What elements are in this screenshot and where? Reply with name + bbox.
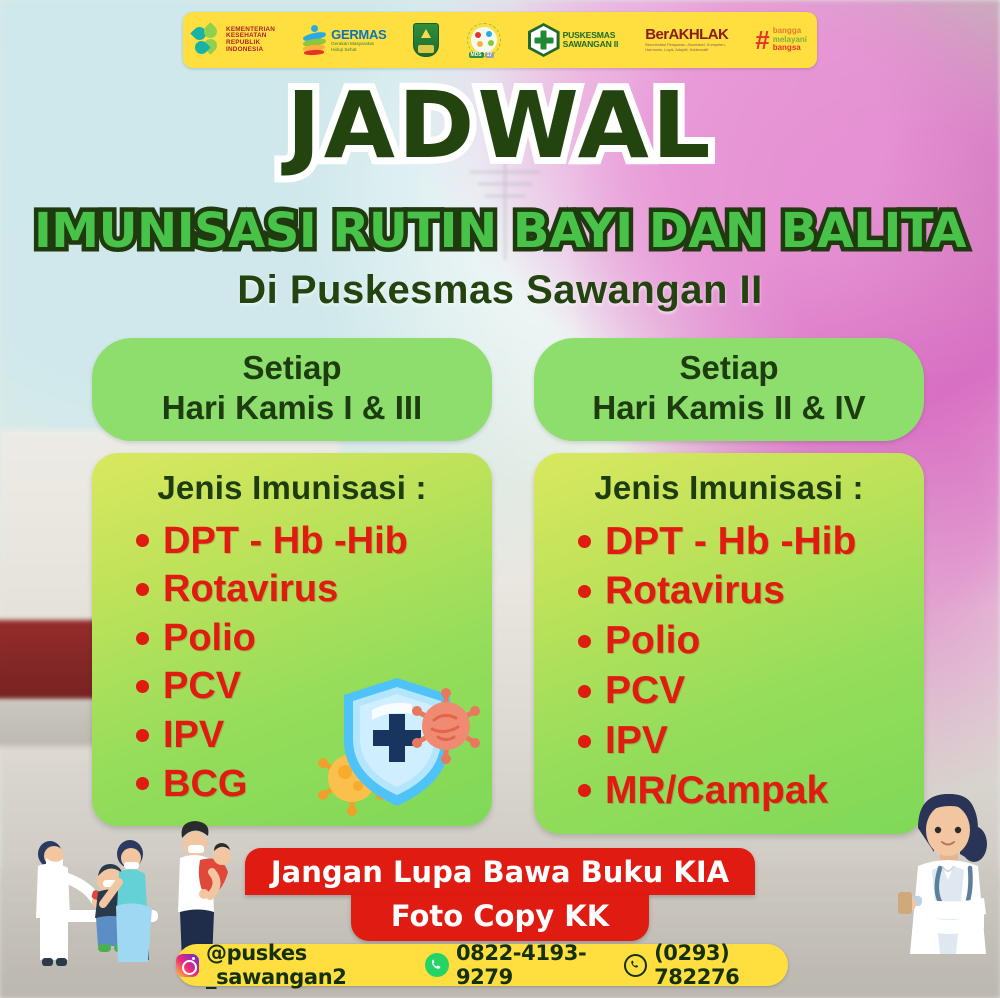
vaccine-label: IPV <box>605 716 668 766</box>
vaccine-label: DPT - Hb -Hib <box>163 517 408 566</box>
phone-icon[interactable] <box>624 954 647 977</box>
berakhlak-subtitle-2: Harmonis, Loyal, Adaptif, Kolaboratif <box>645 48 728 53</box>
kemenkes-logo: KEMENTERIAN KESEHATAN REPUBLIK INDONESIA <box>193 25 275 55</box>
mds-logo: MDS 17 <box>467 23 501 57</box>
vaccine-label: Polio <box>163 614 256 663</box>
list-item: DPT - Hb -Hib <box>578 517 914 567</box>
vaccine-label: Polio <box>605 616 700 666</box>
bullet-icon <box>578 635 591 648</box>
germas-title: GERMAS <box>331 28 386 41</box>
vaccine-label: IPV <box>163 711 224 760</box>
contact-whatsapp[interactable]: 0822-4193-9279 <box>425 941 606 989</box>
vaccine-label: MR/Campak <box>605 766 828 816</box>
vaccine-label: Rotavirus <box>163 565 338 614</box>
list-item: Rotavirus <box>136 565 482 614</box>
contact-bar: @puskes _sawangan2 0822-4193-9279 (0293)… <box>176 944 788 986</box>
kemenkes-line-4: INDONESIA <box>226 47 275 54</box>
germas-subtitle-2: Hidup Sehat <box>331 47 386 53</box>
list-item: MR/Campak <box>578 766 914 816</box>
poster-title: JADWAL <box>0 78 1000 175</box>
vaccine-label: PCV <box>605 666 685 716</box>
vaccine-card-right: Jenis Imunisasi : DPT - Hb -Hib Rotaviru… <box>534 453 924 834</box>
day-pill-right-line2: Hari Kamis II & IV <box>548 388 910 428</box>
poster-location: Di Puskesmas Sawangan II <box>0 268 1000 313</box>
bangga-line-3: bangsa <box>773 44 807 53</box>
instagram-handle: @puskes _sawangan2 <box>206 941 407 989</box>
list-item: Rotavirus <box>578 566 914 616</box>
reminder-line-1: Jangan Lupa Bawa Buku KIA <box>245 848 755 895</box>
day-pill-left-line2: Hari Kamis I & III <box>106 388 478 428</box>
bangga-melayani-logo: # bangga melayani bangsa <box>755 27 807 54</box>
bullet-icon <box>136 729 149 742</box>
reminder-banner: Jangan Lupa Bawa Buku KIA Foto Copy KK <box>0 848 1000 941</box>
berakhlak-title: BerAKHLAK <box>645 27 728 42</box>
bullet-icon <box>578 735 591 748</box>
logo-strip: KEMENTERIAN KESEHATAN REPUBLIK INDONESIA… <box>183 12 817 68</box>
list-item: PCV <box>136 662 482 711</box>
kemenkes-logo-text: KEMENTERIAN KESEHATAN REPUBLIK INDONESIA <box>226 27 275 53</box>
day-pill-left-line1: Setiap <box>106 348 478 388</box>
vaccine-list-title-left: Jenis Imunisasi : <box>102 469 482 507</box>
vaccine-list-right: DPT - Hb -Hib Rotavirus Polio PCV IPV MR… <box>544 517 914 816</box>
list-item: PCV <box>578 666 914 716</box>
mds-badge-label: MDS <box>469 52 484 58</box>
germas-logo: GERMAS Gerakan Masyarakat Hidup Sehat <box>302 25 386 55</box>
whatsapp-icon[interactable] <box>425 953 449 977</box>
vaccine-list-title-right: Jenis Imunisasi : <box>544 469 914 507</box>
bangga-logo-text: bangga melayani bangsa <box>773 27 807 54</box>
list-item: Polio <box>578 616 914 666</box>
day-pill-right: Setiap Hari Kamis II & IV <box>534 338 924 441</box>
contact-phone[interactable]: (0293) 782276 <box>624 941 788 989</box>
phone-number: (0293) 782276 <box>654 941 788 989</box>
poster-subtitle: IMUNISASI RUTIN BAYI DAN BALITA <box>0 203 1000 259</box>
phone-glyph <box>628 958 643 973</box>
bullet-icon <box>136 777 149 790</box>
vaccine-label: DPT - Hb -Hib <box>605 517 856 567</box>
whatsapp-number: 0822-4193-9279 <box>456 941 606 989</box>
green-cross-hexagon-icon <box>528 23 560 57</box>
vaccine-card-left: Jenis Imunisasi : DPT - Hb -Hib Rotaviru… <box>92 453 492 827</box>
day-pill-right-line1: Setiap <box>548 348 910 388</box>
bullet-icon <box>136 680 149 693</box>
berakhlak-logo-text: BerAKHLAK Berorientasi Pelayanan, Akunta… <box>645 27 728 52</box>
bullet-icon <box>136 583 149 596</box>
day-pill-left: Setiap Hari Kamis I & III <box>92 338 492 441</box>
column-left: Setiap Hari Kamis I & III Jenis Imunisas… <box>92 338 492 826</box>
immunization-schedule-poster: KEMENTERIAN KESEHATAN REPUBLIK INDONESIA… <box>0 0 1000 998</box>
germas-logo-text: GERMAS Gerakan Masyarakat Hidup Sehat <box>331 28 386 53</box>
list-item: BCG <box>136 760 482 809</box>
vaccine-label: PCV <box>163 662 241 711</box>
puskesmas-line-2: SAWANGAN II <box>563 40 619 49</box>
vaccine-label: BCG <box>163 760 247 809</box>
kemenkes-petal-icon <box>193 25 223 55</box>
mds-circle-icon: MDS 17 <box>467 23 501 57</box>
mds-badge-alt: 17 <box>485 52 495 58</box>
germas-wave-icon <box>302 25 328 55</box>
bullet-icon <box>136 632 149 645</box>
vaccine-label: Rotavirus <box>605 566 785 616</box>
list-item: Polio <box>136 614 482 663</box>
whatsapp-glyph <box>425 953 449 977</box>
vaccine-list-left: DPT - Hb -Hib Rotavirus Polio PCV IPV BC… <box>102 517 482 809</box>
puskesmas-logo: PUSKESMAS SAWANGAN II <box>528 23 619 57</box>
puskesmas-logo-text: PUSKESMAS SAWANGAN II <box>563 31 619 50</box>
reminder-line-2: Foto Copy KK <box>351 895 649 941</box>
bullet-icon <box>578 784 591 797</box>
contact-instagram[interactable]: @puskes _sawangan2 <box>176 941 407 989</box>
bullet-icon <box>136 534 149 547</box>
berakhlak-logo: BerAKHLAK Berorientasi Pelayanan, Akunta… <box>645 27 728 52</box>
bullet-icon <box>578 585 591 598</box>
schedule-columns: Setiap Hari Kamis I & III Jenis Imunisas… <box>0 338 1000 828</box>
bullet-icon <box>578 535 591 548</box>
kabupaten-logo <box>413 23 439 57</box>
list-item: DPT - Hb -Hib <box>136 517 482 566</box>
list-item: IPV <box>136 711 482 760</box>
bullet-icon <box>578 685 591 698</box>
column-right: Setiap Hari Kamis II & IV Jenis Imunisas… <box>534 338 924 834</box>
instagram-icon[interactable] <box>176 954 199 977</box>
hash-icon: # <box>755 30 769 51</box>
list-item: IPV <box>578 716 914 766</box>
kabupaten-shield-icon <box>413 23 439 57</box>
